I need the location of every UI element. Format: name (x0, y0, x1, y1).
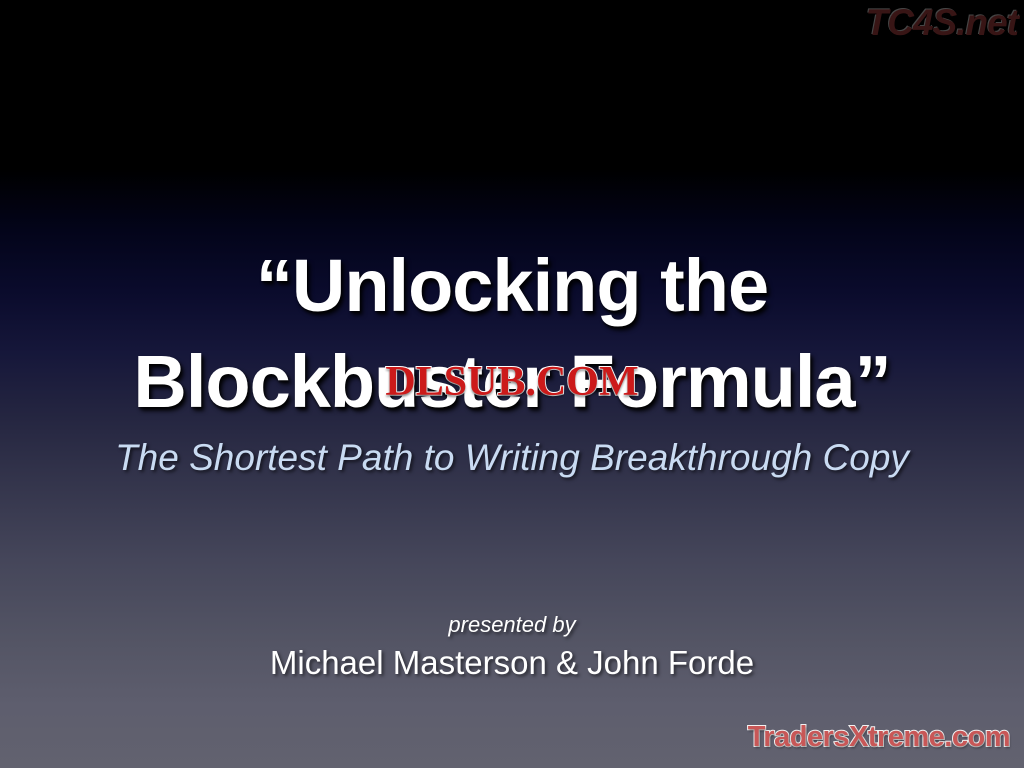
slide-subtitle: The Shortest Path to Writing Breakthroug… (0, 437, 1024, 479)
title-line-2: Blockbuster Formula” (0, 334, 1024, 430)
presented-by-label: presented by (0, 612, 1024, 638)
presenter-names: Michael Masterson & John Forde (0, 644, 1024, 682)
presentation-slide: TC4S.net “Unlocking the Blockbuster Form… (0, 0, 1024, 768)
title-line-1: “Unlocking the (0, 238, 1024, 334)
tc4s-watermark: TC4S.net (866, 2, 1018, 44)
tradersxtreme-logo: TradersXtreme.com (748, 721, 1010, 754)
presenter-credits: presented by Michael Masterson & John Fo… (0, 612, 1024, 682)
slide-title: “Unlocking the Blockbuster Formula” (0, 238, 1024, 430)
